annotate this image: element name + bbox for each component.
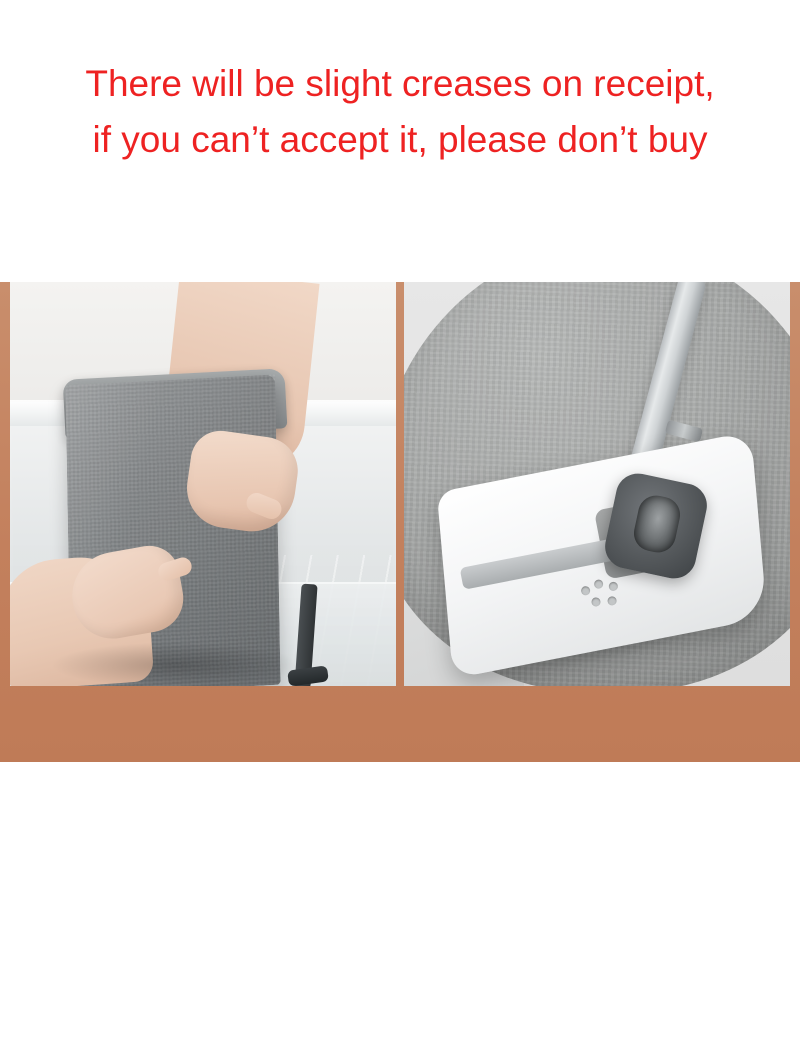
hands-folding-grey-cloth-into-plastic-tub-photo — [10, 282, 396, 686]
headline-line-1: There will be slight creases on receipt, — [85, 63, 714, 104]
caption-hand-washing: Hand washing supported — [0, 982, 400, 1054]
cloth-shadow — [50, 642, 300, 686]
caption-vacuum-cleaner-label: Vacuum cleaner supported — [489, 1005, 762, 1032]
photo-row — [10, 282, 790, 686]
product-photo-panel: Hand washing supported Vacuum cleaner su… — [0, 282, 800, 762]
promo-headline: There will be slight creases on receipt,… — [0, 56, 800, 168]
pill-badge-icon — [47, 1008, 85, 1028]
vacuum-cleaner-head-on-grey-carpet-photo — [404, 282, 790, 686]
caption-vacuum-cleaner: Vacuum cleaner supported — [400, 982, 800, 1054]
caption-hand-washing-label: Hand washing supported — [99, 1005, 353, 1032]
headline-line-2: if you can’t accept it, please don’t buy — [0, 112, 800, 168]
caption-bar: Hand washing supported Vacuum cleaner su… — [0, 982, 800, 1054]
bottom-white-margin — [0, 762, 800, 800]
pill-badge-icon — [437, 1008, 475, 1028]
